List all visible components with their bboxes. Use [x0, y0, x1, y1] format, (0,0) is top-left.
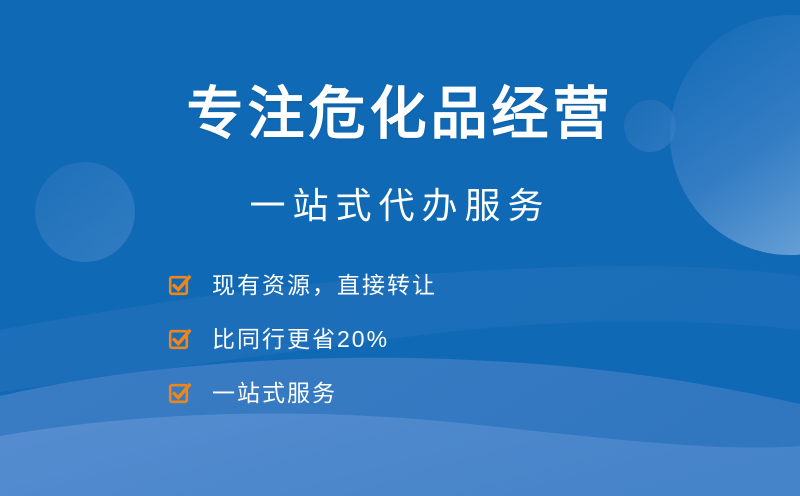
list-item: 现有资源，直接转让	[168, 272, 437, 298]
promo-banner: 专注危化品经营 一站式代办服务 现有资源，直接转让 比同行更省20%	[0, 0, 800, 496]
page-title: 专注危化品经营	[0, 84, 800, 144]
list-item-label: 现有资源，直接转让	[212, 274, 437, 297]
page-subtitle: 一站式代办服务	[0, 185, 800, 226]
list-item-label: 一站式服务	[212, 382, 337, 405]
list-item: 一站式服务	[168, 380, 437, 406]
feature-list: 现有资源，直接转让 比同行更省20% 一站式服务	[168, 272, 437, 406]
checkbox-checked-icon	[168, 327, 192, 351]
banner-content: 专注危化品经营 一站式代办服务 现有资源，直接转让 比同行更省20%	[0, 0, 800, 496]
checkbox-checked-icon	[168, 381, 192, 405]
checkbox-checked-icon	[168, 273, 192, 297]
list-item-label: 比同行更省20%	[212, 328, 389, 351]
list-item: 比同行更省20%	[168, 326, 437, 352]
